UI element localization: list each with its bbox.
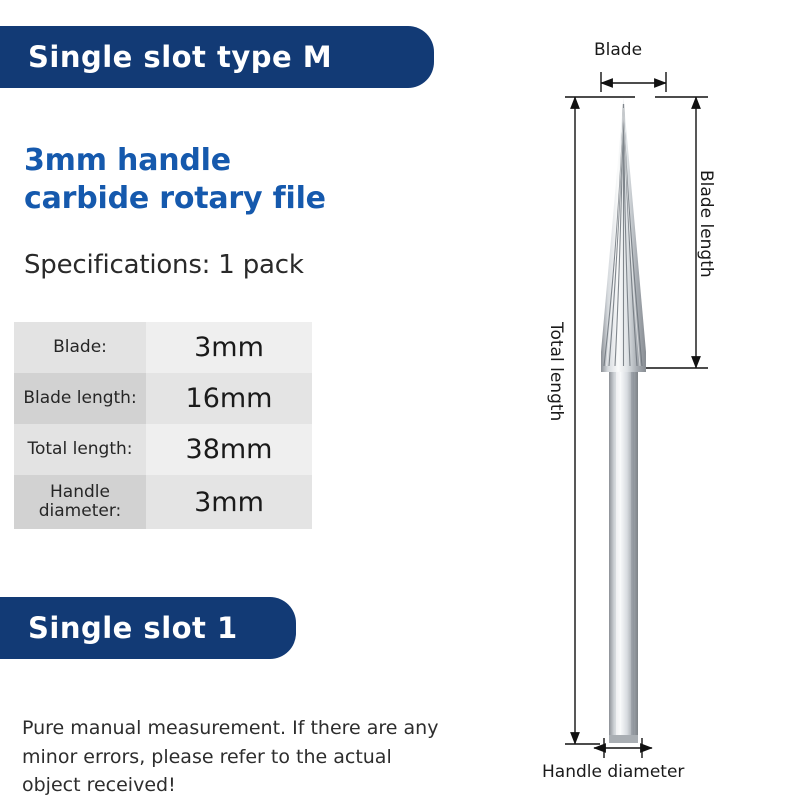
label-handle-diameter: Handle diameter [542,762,684,782]
table-row: Blade: 3mm [14,322,312,373]
product-spec-page: Single slot type M 3mm handle carbide ro… [0,0,800,800]
spec-key: Total length: [14,424,146,475]
banner-bottom-title: Single slot 1 [28,611,238,645]
footer-note: Pure manual measurement. If there are an… [22,714,442,800]
spec-table: Blade: 3mm Blade length: 16mm Total leng… [14,322,312,529]
banner-top-title: Single slot type M [28,40,332,74]
label-total-length: Total length [546,322,566,421]
spec-key: Blade: [14,322,146,373]
spec-value: 16mm [146,373,312,424]
specifications-label: Specifications: 1 pack [24,250,304,280]
spec-value: 3mm [146,475,312,529]
label-blade-length: Blade length [696,170,716,278]
label-blade: Blade [594,40,642,60]
product-heading-line2: carbide rotary file [24,180,444,218]
banner-top: Single slot type M [0,26,434,88]
tool-diagram: Blade Blade length Total length Handle d… [470,0,800,800]
spec-value: 38mm [146,424,312,475]
product-heading-line1: 3mm handle [24,142,444,180]
table-row: Blade length: 16mm [14,373,312,424]
banner-bottom: Single slot 1 [0,597,296,659]
product-heading: 3mm handle carbide rotary file [24,142,444,219]
spec-key: Handle diameter: [14,475,146,529]
spec-key: Blade length: [14,373,146,424]
left-column: Single slot type M 3mm handle carbide ro… [0,0,470,800]
spec-value: 3mm [146,322,312,373]
rotary-file-illustration [470,0,800,800]
table-row: Total length: 38mm [14,424,312,475]
table-row: Handle diameter: 3mm [14,475,312,529]
